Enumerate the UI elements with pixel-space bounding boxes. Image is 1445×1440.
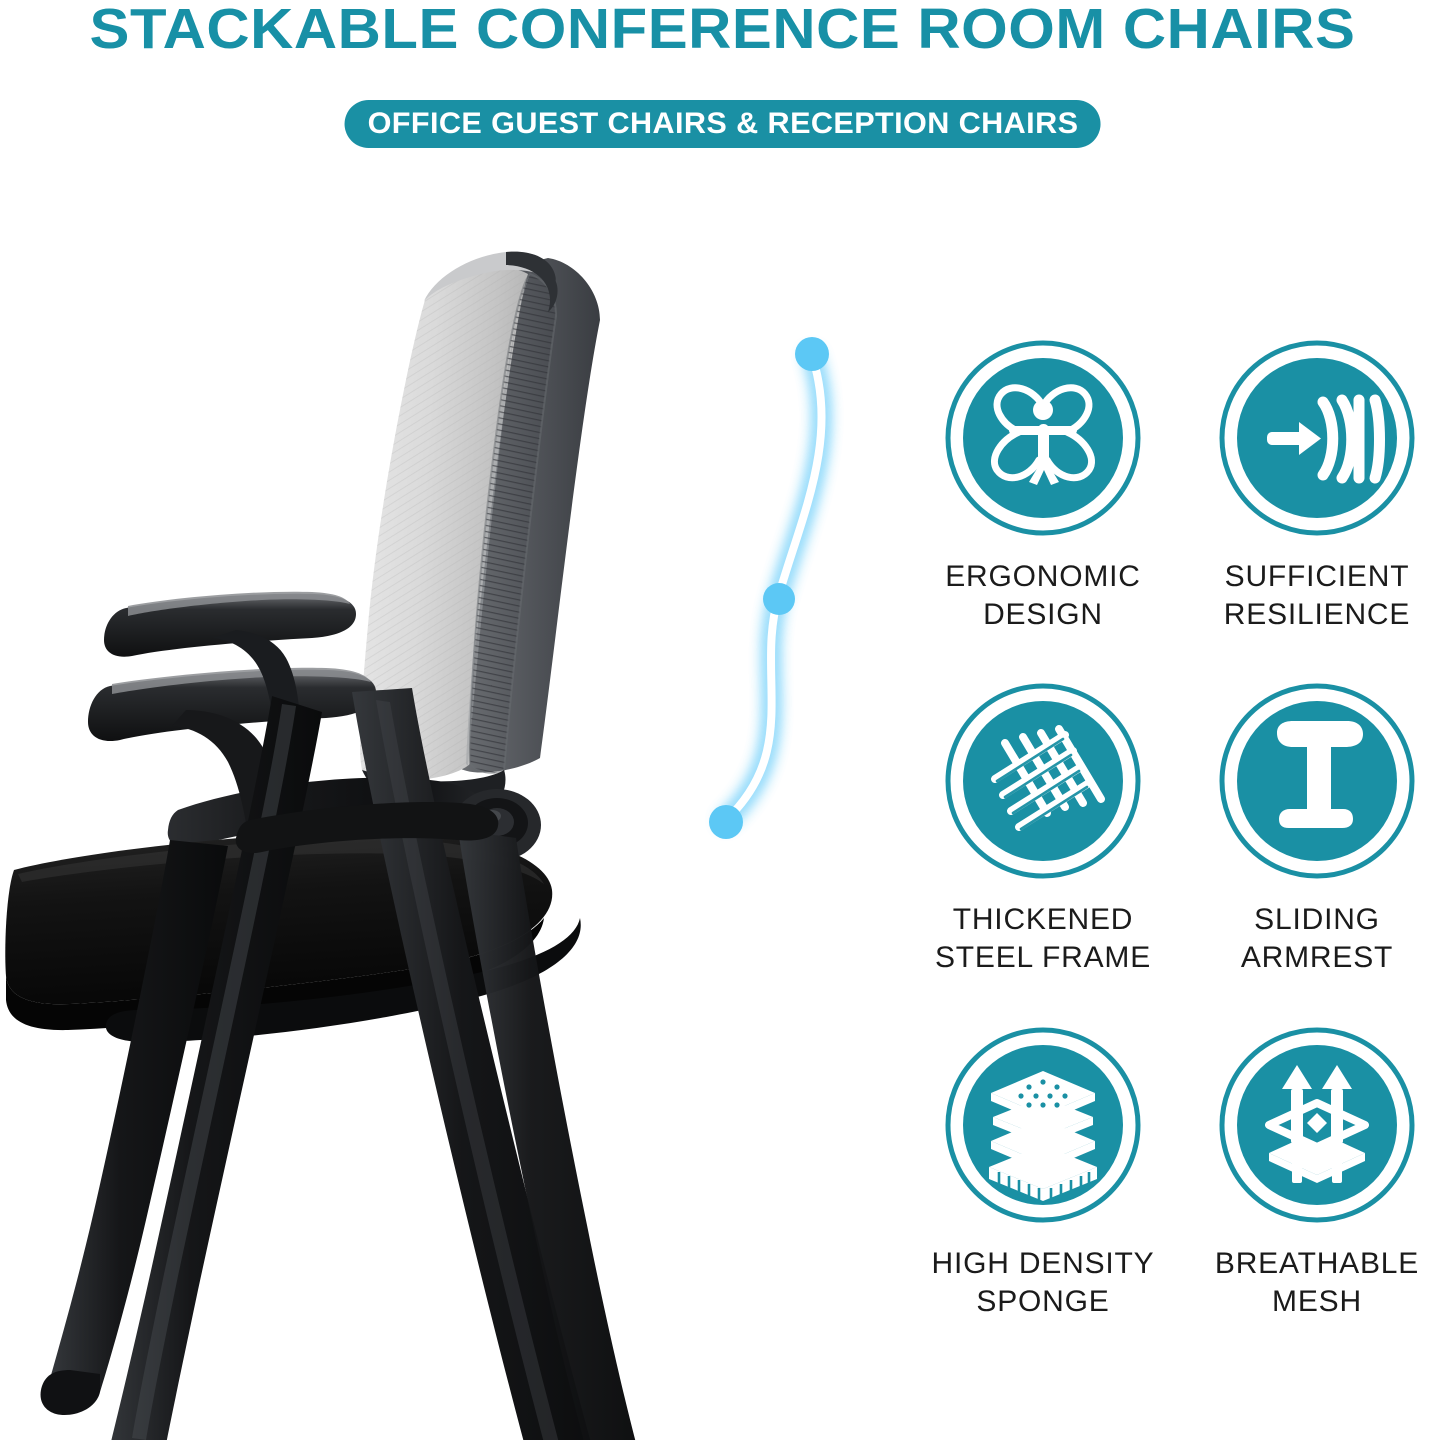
feature-label: BREATHABLE MESH [1215, 1245, 1419, 1321]
armrest-icon [1219, 683, 1415, 879]
feature-label: HIGH DENSITY SPONGE [932, 1245, 1155, 1321]
subtitle-pill: OFFICE GUEST CHAIRS & RECEPTION CHAIRS [344, 100, 1101, 148]
breathable-mesh-icon [1219, 1027, 1415, 1223]
subtitle-text: OFFICE GUEST CHAIRS & RECEPTION CHAIRS [367, 109, 1078, 139]
features-grid: ERGONOMIC DESIGN SUFFICIENT RESILIENCE [915, 340, 1445, 1370]
feature-high-density-sponge[interactable]: HIGH DENSITY SPONGE [915, 1027, 1171, 1370]
feature-thickened-steel-frame[interactable]: THICKENED STEEL FRAME [915, 683, 1171, 1026]
feature-label: SLIDING ARMREST [1241, 901, 1393, 977]
feature-label: THICKENED STEEL FRAME [935, 901, 1151, 977]
steel-lattice-icon [945, 683, 1141, 879]
feature-label: ERGONOMIC DESIGN [945, 558, 1141, 634]
feature-breathable-mesh[interactable]: BREATHABLE MESH [1189, 1027, 1445, 1370]
ergonomic-person-icon [945, 340, 1141, 536]
product-image [0, 170, 900, 1440]
resilience-arrow-icon [1219, 340, 1415, 536]
floor-glide [41, 1370, 100, 1415]
foam-layers-icon [945, 1027, 1141, 1223]
feature-label: SUFFICIENT RESILIENCE [1224, 558, 1410, 634]
feature-sufficient-resilience[interactable]: SUFFICIENT RESILIENCE [1189, 340, 1445, 683]
chair-illustration [0, 170, 900, 1440]
header-banner: STACKABLE CONFERENCE ROOM CHAIRS OFFICE … [0, 0, 1445, 170]
feature-sliding-armrest[interactable]: SLIDING ARMREST [1189, 683, 1445, 1026]
feature-ergonomic-design[interactable]: ERGONOMIC DESIGN [915, 340, 1171, 683]
upper-armrest [104, 592, 356, 657]
page-title: STACKABLE CONFERENCE ROOM CHAIRS [0, 0, 1445, 60]
